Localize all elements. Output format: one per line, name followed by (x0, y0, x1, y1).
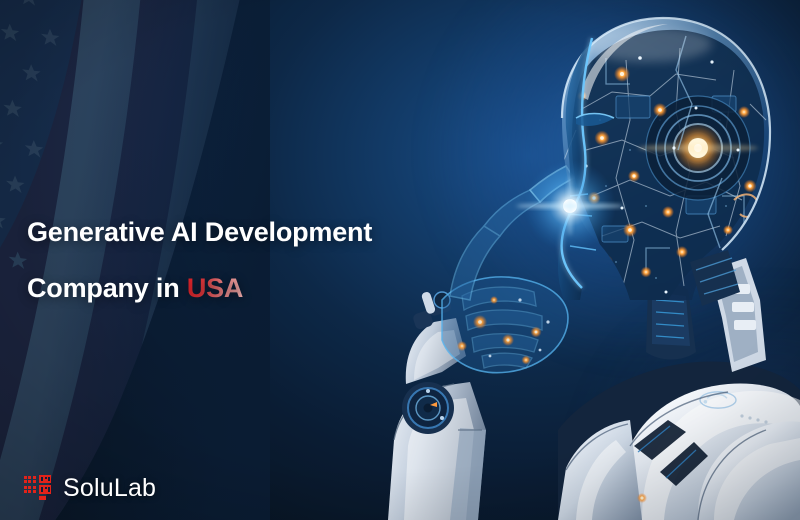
robot-head (516, 18, 770, 310)
page-title: Generative AI Development Company in USA (27, 204, 467, 316)
brand-logo-text: SoluLab (63, 476, 156, 501)
brand-logo[interactable]: SoluLab (24, 475, 156, 502)
solulab-monogram-icon (24, 475, 54, 502)
headline-line-2-prefix: Company in (27, 273, 187, 303)
headline-line-2: Company in USA (27, 260, 467, 316)
hero-banner: Generative AI Development Company in USA (0, 0, 800, 520)
headline-line-1: Generative AI Development (27, 204, 467, 260)
headline-highlight-usa: USA (187, 273, 243, 303)
